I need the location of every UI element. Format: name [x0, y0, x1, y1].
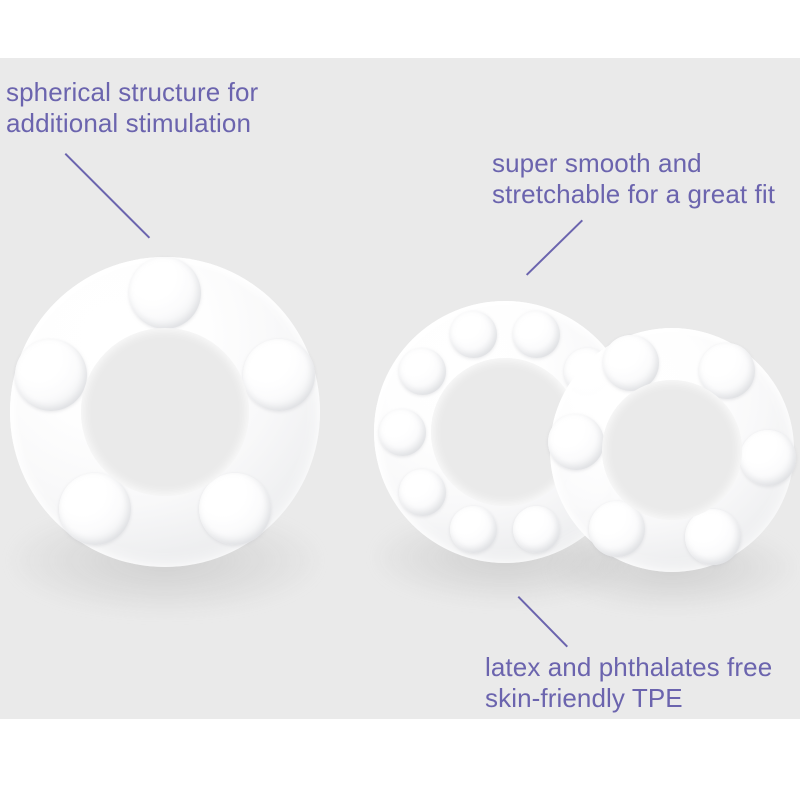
caption-spherical-structure: spherical structure for additional stimu… — [6, 77, 258, 139]
ring-bead — [243, 339, 315, 411]
caption-line-1: super smooth and — [492, 148, 702, 178]
ring-hole — [81, 328, 249, 496]
caption-line-2: stretchable for a great fit — [492, 179, 775, 210]
ring-bead — [450, 506, 497, 553]
ring-bead — [15, 339, 87, 411]
caption-line-1: latex and phthalates free — [485, 652, 772, 682]
ring-bead — [548, 414, 604, 470]
ring-bead — [399, 348, 446, 395]
caption-line-2: additional stimulation — [6, 108, 258, 139]
ring-bead — [199, 473, 271, 545]
caption-line-1: spherical structure for — [6, 77, 258, 107]
ring-large — [0, 221, 356, 603]
ring-bead — [399, 469, 446, 516]
ring-bead — [450, 311, 497, 358]
caption-latex-free: latex and phthalates free skin-friendly … — [485, 652, 772, 714]
ring-bead — [379, 409, 426, 456]
ring-hole — [602, 380, 742, 520]
infographic-canvas: spherical structure for additional stimu… — [0, 0, 800, 800]
caption-super-smooth: super smooth and stretchable for a great… — [492, 148, 775, 210]
ring-bead — [129, 257, 201, 329]
ring-bead — [740, 430, 796, 486]
ring-small — [522, 300, 800, 600]
caption-line-2: skin-friendly TPE — [485, 683, 772, 714]
ring-bead — [685, 509, 741, 565]
